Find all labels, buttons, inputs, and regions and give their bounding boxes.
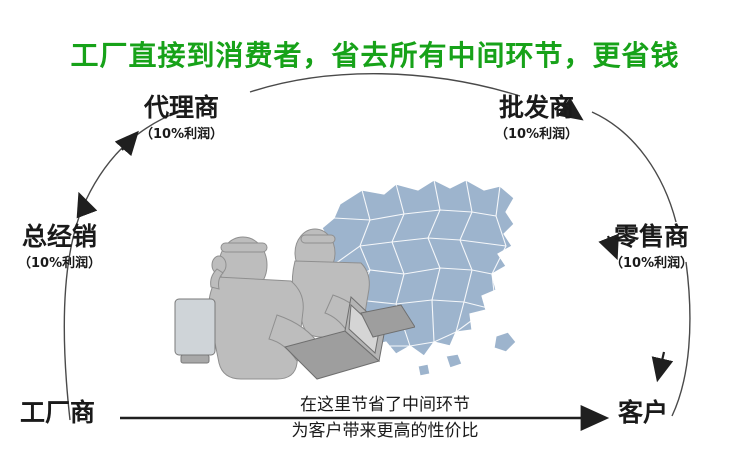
- node-customer-label: 客户: [618, 400, 668, 426]
- node-agent-label: 代理商: [140, 95, 223, 121]
- node-distributor-note: （10%利润）: [18, 252, 101, 271]
- node-wholesaler-note: （10%利润）: [495, 123, 578, 142]
- node-wholesaler-label: 批发商: [495, 95, 578, 121]
- node-factory: 工厂商: [20, 400, 95, 426]
- bottom-caption-line1: 在这里节省了中间环节: [255, 392, 515, 418]
- node-retailer-label: 零售商: [610, 224, 693, 250]
- node-distributor: 总经销 （10%利润）: [18, 224, 101, 271]
- node-factory-label: 工厂商: [20, 400, 95, 426]
- page-title: 工厂直接到消费者，省去所有中间环节，更省钱: [0, 34, 750, 74]
- bottom-caption: 在这里节省了中间环节 为客户带来更高的性价比: [255, 392, 515, 445]
- node-wholesaler: 批发商 （10%利润）: [495, 95, 578, 142]
- diagram-canvas: 工厂直接到消费者，省去所有中间环节，更省钱 代理商 （10%利润） 批发商 （1…: [0, 0, 750, 452]
- node-distributor-label: 总经销: [18, 224, 101, 250]
- node-customer: 客户: [618, 400, 668, 426]
- node-agent: 代理商 （10%利润）: [140, 95, 223, 142]
- node-retailer-note: （10%利润）: [610, 252, 693, 271]
- bottom-caption-line2: 为客户带来更高的性价比: [255, 418, 515, 444]
- node-agent-note: （10%利润）: [140, 123, 223, 142]
- node-retailer: 零售商 （10%利润）: [610, 224, 693, 271]
